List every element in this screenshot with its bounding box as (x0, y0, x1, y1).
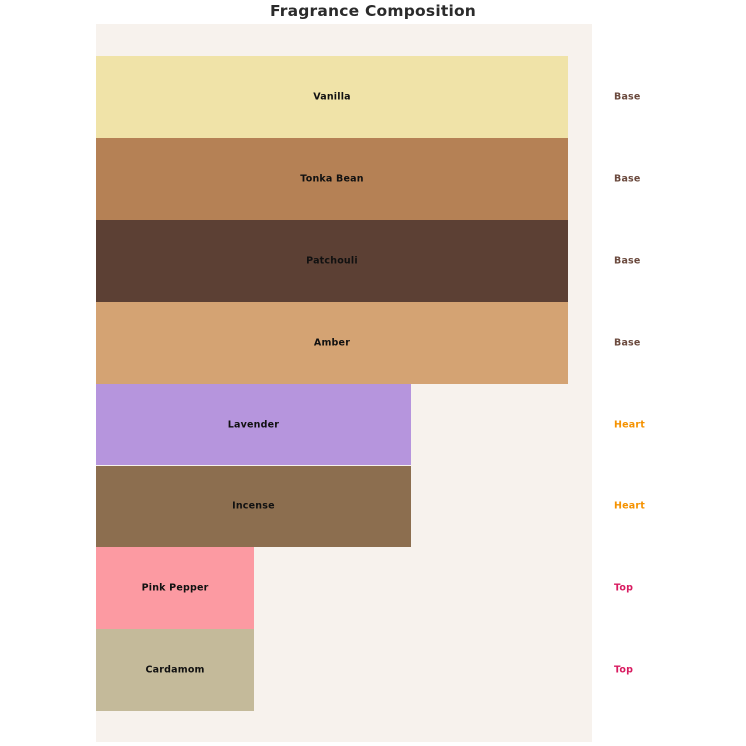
note-heart: Heart (614, 419, 645, 430)
bar-row: Tonka Bean (96, 138, 592, 220)
note-base: Base (614, 173, 641, 184)
page-title: Fragrance Composition (0, 2, 746, 20)
bar-row: Patchouli (96, 220, 592, 302)
bar-label: Vanilla (96, 91, 568, 102)
bar-label: Amber (96, 337, 568, 348)
note-base: Base (614, 337, 641, 348)
bar-row: Amber (96, 302, 592, 384)
note-top: Top (614, 583, 633, 594)
bar-row: Pink Pepper (96, 547, 592, 629)
bar-label: Cardamom (96, 665, 254, 676)
bar-label: Patchouli (96, 255, 568, 266)
bar-label: Tonka Bean (96, 173, 568, 184)
note-top: Top (614, 665, 633, 676)
note-base: Base (614, 255, 641, 266)
bar-row: Incense (96, 466, 592, 548)
figure-canvas: Fragrance Composition VanillaTonka BeanP… (0, 0, 746, 746)
bar-row: Vanilla (96, 56, 592, 138)
note-heart: Heart (614, 501, 645, 512)
category-notes-layer: BaseBaseBaseBaseHeartHeartTopTop (592, 24, 746, 742)
bar-label: Lavender (96, 419, 411, 430)
bar-row: Lavender (96, 384, 592, 466)
note-base: Base (614, 91, 641, 102)
bar-label: Incense (96, 501, 411, 512)
bar-label: Pink Pepper (96, 583, 254, 594)
bar-row: Cardamom (96, 629, 592, 711)
bars-layer: VanillaTonka BeanPatchouliAmberLavenderI… (96, 24, 592, 742)
plot-area: VanillaTonka BeanPatchouliAmberLavenderI… (96, 24, 592, 742)
